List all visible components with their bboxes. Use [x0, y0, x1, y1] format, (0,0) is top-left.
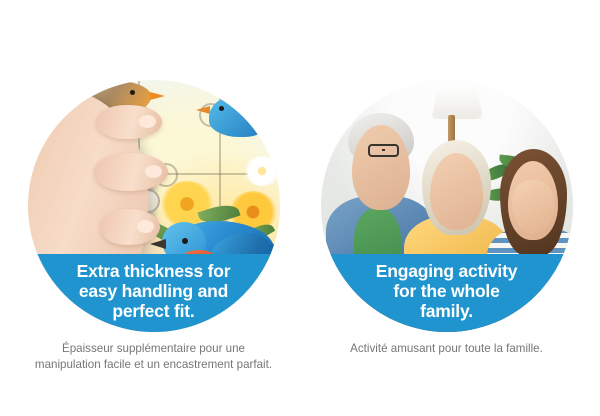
promo-banner: Extra thickness for easy handling and pe… [0, 0, 600, 416]
feature-columns: Extra thickness for easy handling and pe… [0, 0, 600, 416]
feature-headline-band-left: Extra thickness for easy handling and pe… [28, 254, 280, 332]
fingernail [145, 165, 162, 178]
feature-headline-engaging-activity: Engaging activity for the whole family. [376, 261, 518, 322]
white-flower [244, 156, 279, 186]
bird-body [209, 95, 271, 137]
feature-headline-band-right: Engaging activity for the whole family. [321, 254, 573, 332]
finger [94, 153, 168, 191]
bird-beak [196, 106, 210, 114]
feature-card-engaging-activity[interactable]: Engaging activity for the whole family. … [306, 80, 587, 357]
feature-subcaption-engaging-activity: Activité amusant pour toute la famille. [313, 341, 581, 357]
finger [96, 105, 162, 139]
eyeglasses-icon [368, 144, 399, 157]
fingernail [137, 220, 154, 233]
feature-medallion-engaging-activity: Engaging activity for the whole family. [321, 80, 573, 332]
feature-subcaption-extra-thickness: Épaisseur supplémentaire pour une manipu… [20, 341, 288, 374]
feature-card-extra-thickness[interactable]: Extra thickness for easy handling and pe… [13, 80, 294, 374]
bird-eye [182, 238, 188, 244]
finger [100, 209, 160, 245]
feature-headline-extra-thickness: Extra thickness for easy handling and pe… [77, 261, 231, 322]
floor-lamp-shade [431, 85, 483, 119]
bird-eye [219, 106, 224, 111]
grandfather-head [352, 125, 410, 210]
small-blue-bird [209, 95, 271, 137]
fingernail [139, 115, 156, 128]
feature-medallion-extra-thickness: Extra thickness for easy handling and pe… [28, 80, 280, 332]
bird-beak [150, 239, 166, 249]
bird-beak [150, 92, 165, 100]
